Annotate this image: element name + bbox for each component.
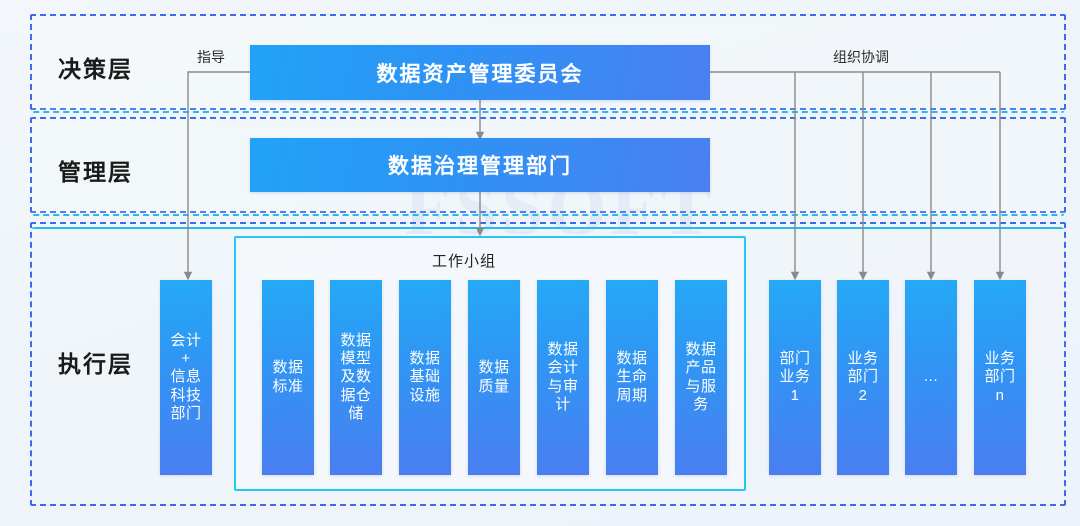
workgroup-item-6-label: 数据产品与服务 xyxy=(676,341,726,414)
workgroup-item-1[interactable]: 数据模型及数据仓储 xyxy=(330,280,382,475)
node-committee-label: 数据资产管理委员会 xyxy=(377,58,584,88)
node-governance-dept[interactable]: 数据治理管理部门 xyxy=(250,138,710,192)
workgroup-item-5-label: 数据生命周期 xyxy=(607,350,657,405)
node-governance-dept-label: 数据治理管理部门 xyxy=(388,150,572,180)
business-unit-1-label: 业务部门2 xyxy=(838,350,888,405)
business-unit-n-label: 业务部门n xyxy=(975,350,1025,405)
workgroup-item-0[interactable]: 数据标准 xyxy=(262,280,314,475)
diagram-canvas: FSSOFT 决策层 管理层 执行层 指导 xyxy=(0,0,1080,526)
workgroup-title: 工作小组 xyxy=(432,250,496,271)
wire-label-guidance: 指导 xyxy=(197,47,225,67)
node-accounting-it-label: 会计+信息科技部门 xyxy=(161,332,211,423)
workgroup-item-3-label: 数据质量 xyxy=(469,359,519,396)
node-committee[interactable]: 数据资产管理委员会 xyxy=(250,45,710,100)
node-accounting-it[interactable]: 会计+信息科技部门 xyxy=(160,280,212,475)
workgroup-item-4[interactable]: 数据会计与审计 xyxy=(537,280,589,475)
workgroup-item-4-label: 数据会计与审计 xyxy=(538,341,588,414)
business-unit-ellipsis-label: … xyxy=(906,368,956,386)
wire-label-coordination: 组织协调 xyxy=(833,47,889,67)
workgroup-item-1-label: 数据模型及数据仓储 xyxy=(331,332,381,423)
business-unit-n[interactable]: 业务部门n xyxy=(974,280,1026,475)
workgroup-item-3[interactable]: 数据质量 xyxy=(468,280,520,475)
workgroup-item-5[interactable]: 数据生命周期 xyxy=(606,280,658,475)
workgroup-item-6[interactable]: 数据产品与服务 xyxy=(675,280,727,475)
business-unit-0-label: 部门业务1 xyxy=(770,350,820,405)
workgroup-item-2-label: 数据基础设施 xyxy=(400,350,450,405)
business-unit-0[interactable]: 部门业务1 xyxy=(769,280,821,475)
business-unit-ellipsis[interactable]: … xyxy=(905,280,957,475)
workgroup-item-0-label: 数据标准 xyxy=(263,359,313,396)
workgroup-item-2[interactable]: 数据基础设施 xyxy=(399,280,451,475)
business-unit-1[interactable]: 业务部门2 xyxy=(837,280,889,475)
